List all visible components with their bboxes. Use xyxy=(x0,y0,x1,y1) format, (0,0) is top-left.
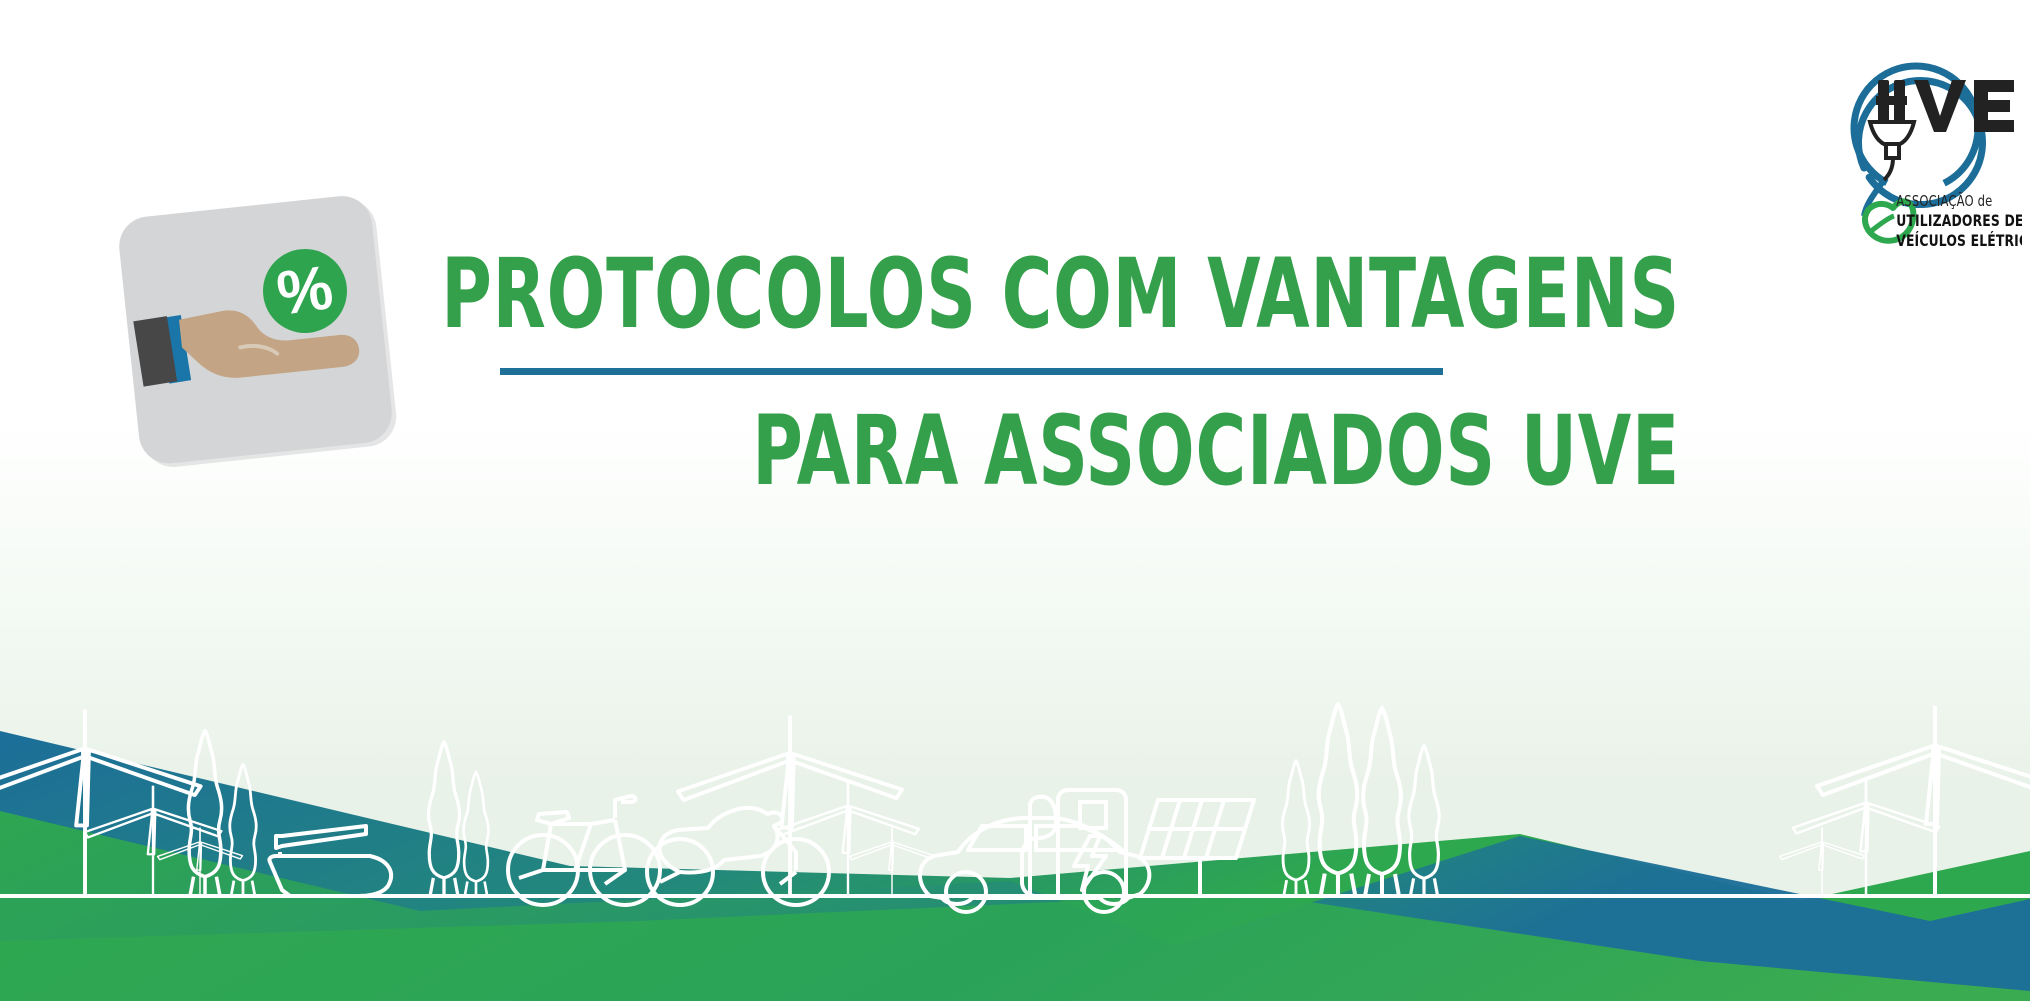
logo-line-1: ASSOCIAÇÃO de xyxy=(1896,192,1992,210)
headline-block: PROTOCOLOS COM VANTAGENS PARA ASSOCIADOS… xyxy=(0,246,1740,499)
page-title-line-1: PROTOCOLOS COM VANTAGENS xyxy=(348,246,1740,342)
logo-line-2: UTILIZADORES DE xyxy=(1896,211,2022,230)
uve-logo: ASSOCIAÇÃO de UTILIZADORES DE VEÍCULOS E… xyxy=(1836,40,2022,260)
page-title-line-2: PARA ASSOCIADOS UVE xyxy=(348,403,1740,499)
logo-line-3: VEÍCULOS ELÉTRICOS xyxy=(1896,231,2022,250)
promo-banner: ASSOCIAÇÃO de UTILIZADORES DE VEÍCULOS E… xyxy=(0,0,2030,1001)
title-divider xyxy=(500,368,1443,375)
landscape-illustration xyxy=(0,521,2030,1001)
